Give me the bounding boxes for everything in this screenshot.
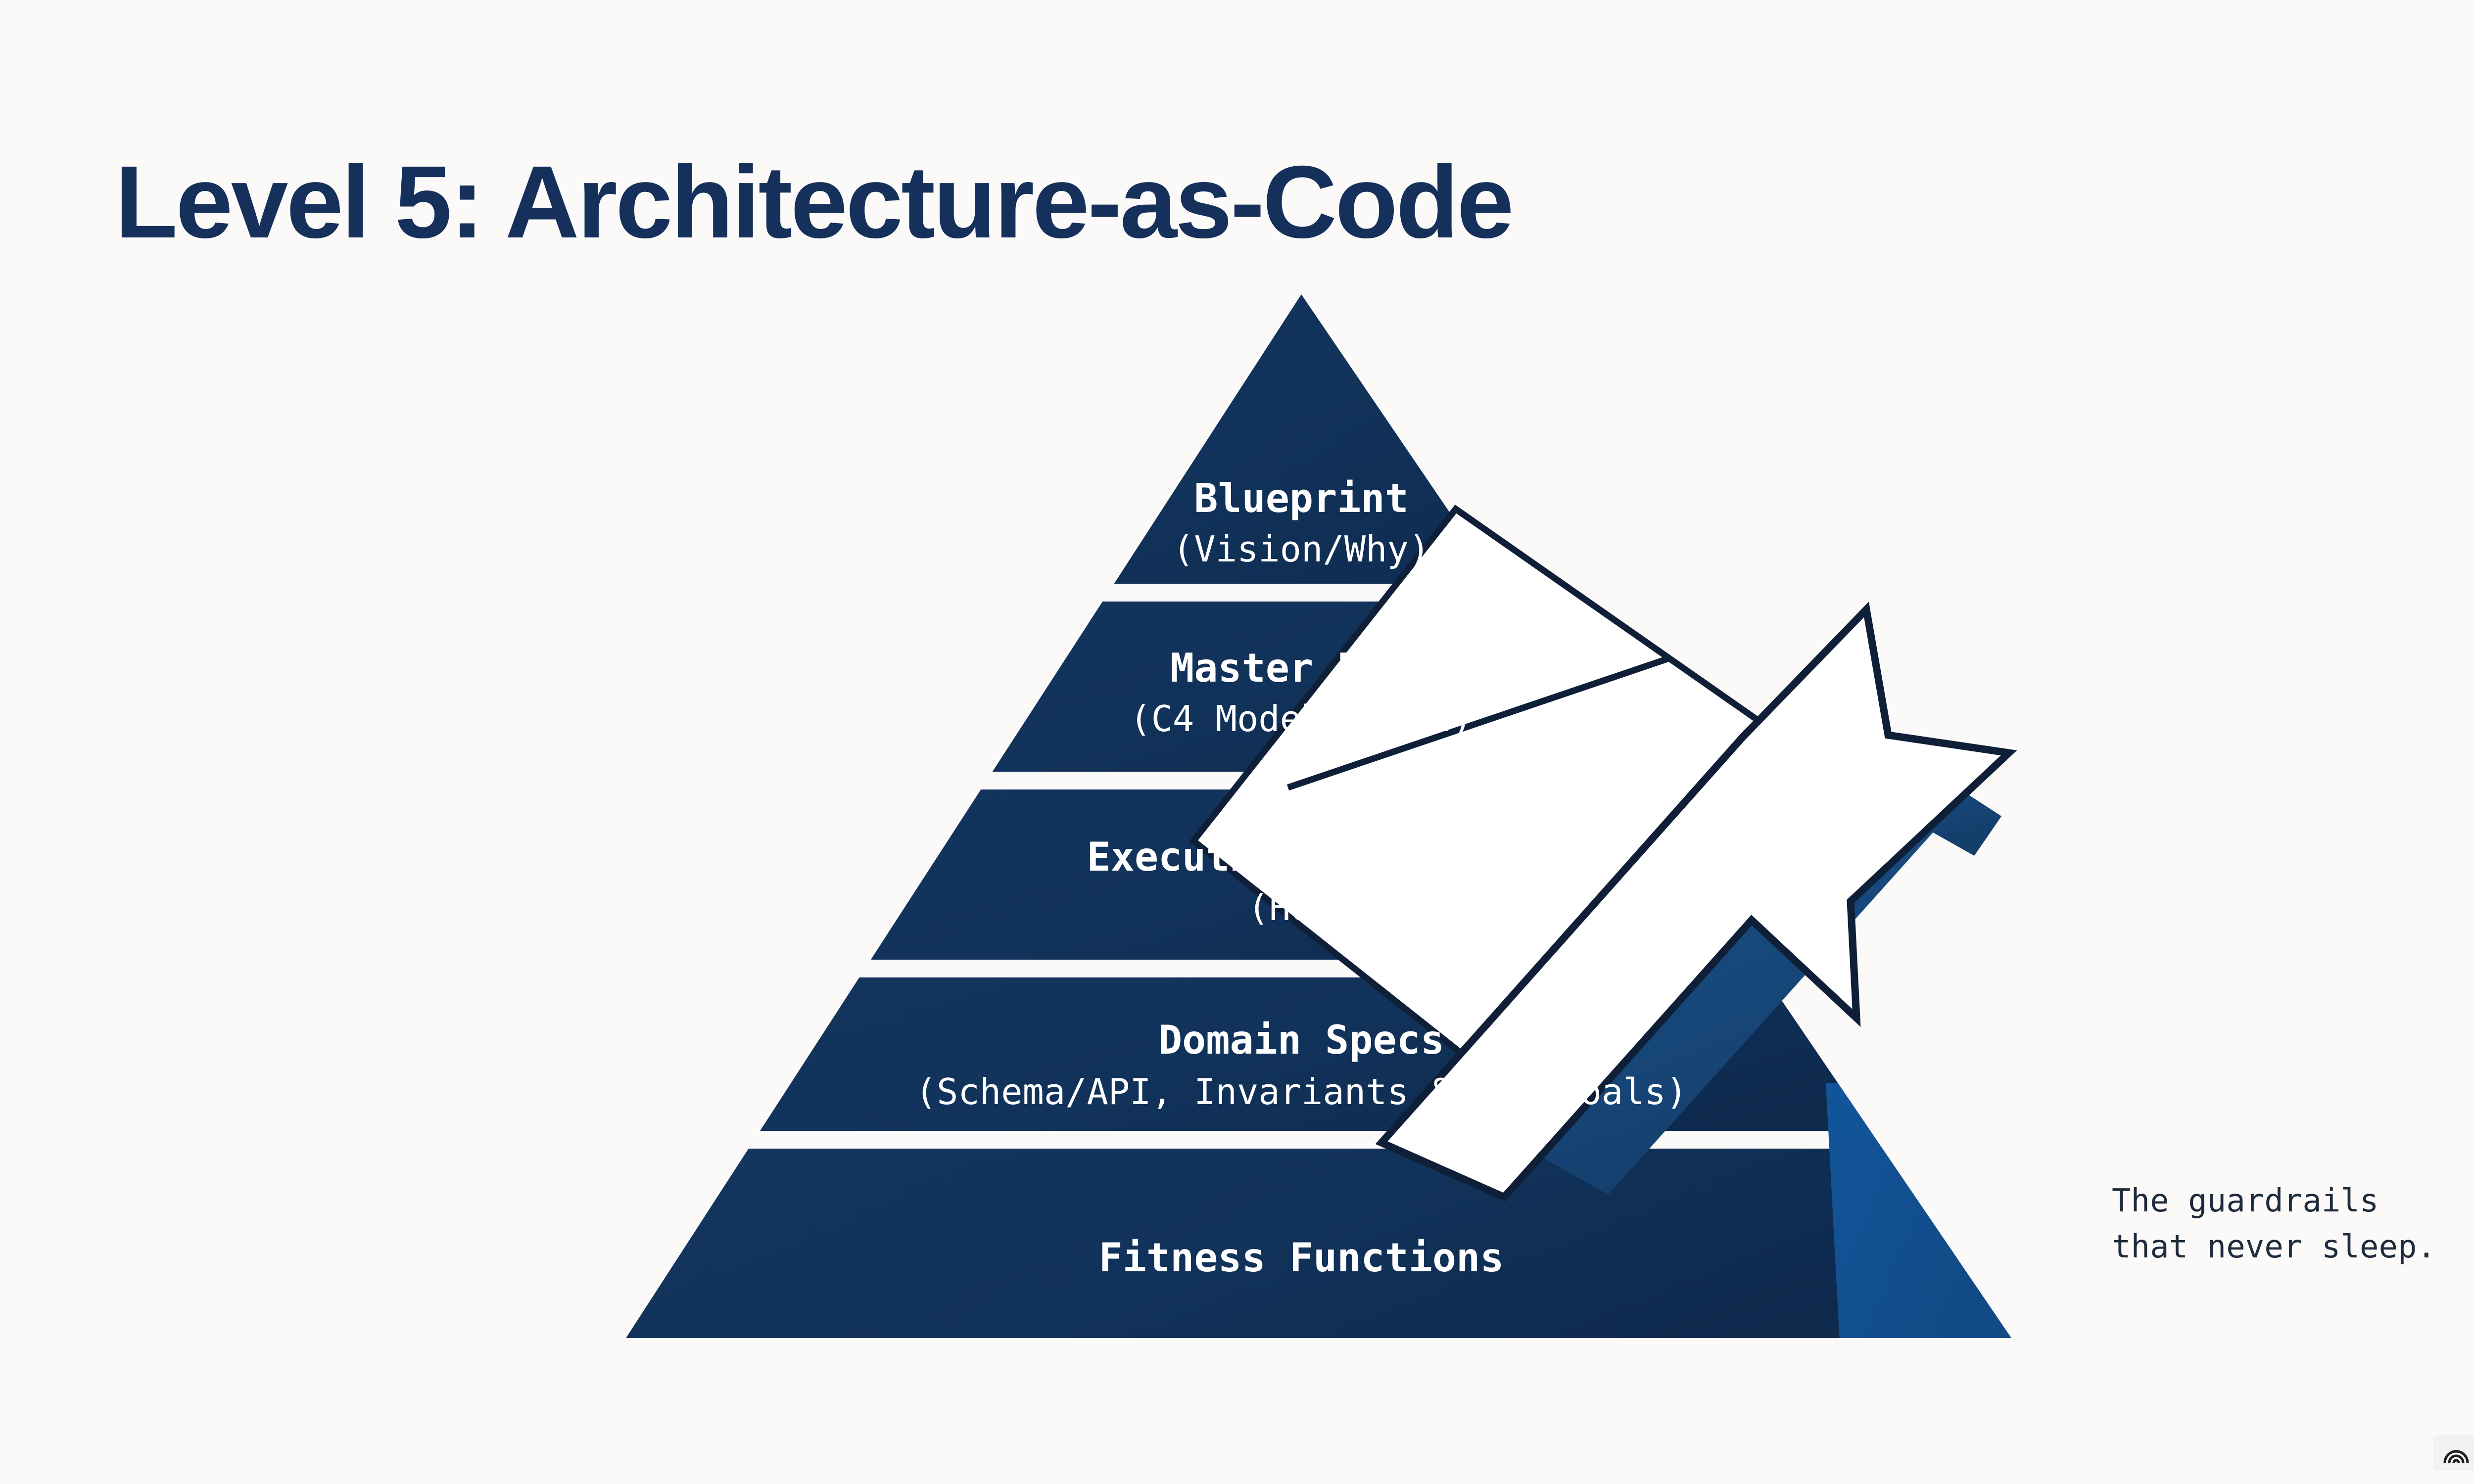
tier-subtitle-execution-playbook: (How): [1248, 887, 1355, 928]
notebooklm-arc-icon: [2443, 1442, 2470, 1465]
page-title: Level 5: Architecture-as-Code: [115, 148, 1512, 256]
caption-line-1: The guardrails: [2112, 1178, 2474, 1224]
tier-subtitle-blueprint: (Vision/Why): [1173, 528, 1430, 570]
tier-title-execution-playbook: Execution Playbook: [1087, 834, 1516, 880]
notebooklm-watermark: NotebookLM: [2433, 1435, 2474, 1471]
tier-title-blueprint: Blueprint: [1194, 475, 1408, 521]
pyramid-highlight-block: [1826, 1083, 2014, 1342]
slide-canvas: Level 5: Architecture-as-Code: [0, 0, 2474, 1484]
tier-title-fitness-functions: Fitness Functions: [1099, 1235, 1504, 1281]
guardrails-caption: The guardrailsthat never sleep.: [2112, 1178, 2474, 1270]
tier-subtitle-domain-specs: (Schema/API, Invariants & non-goals): [915, 1071, 1688, 1113]
tier-title-master-plan: Master Plan: [1170, 645, 1432, 691]
caption-line-2: that never sleep.: [2112, 1224, 2474, 1270]
tier-subtitle-master-plan: (C4 Models/What): [1130, 698, 1473, 740]
tier-title-domain-specs: Domain Specs: [1158, 1017, 1444, 1063]
